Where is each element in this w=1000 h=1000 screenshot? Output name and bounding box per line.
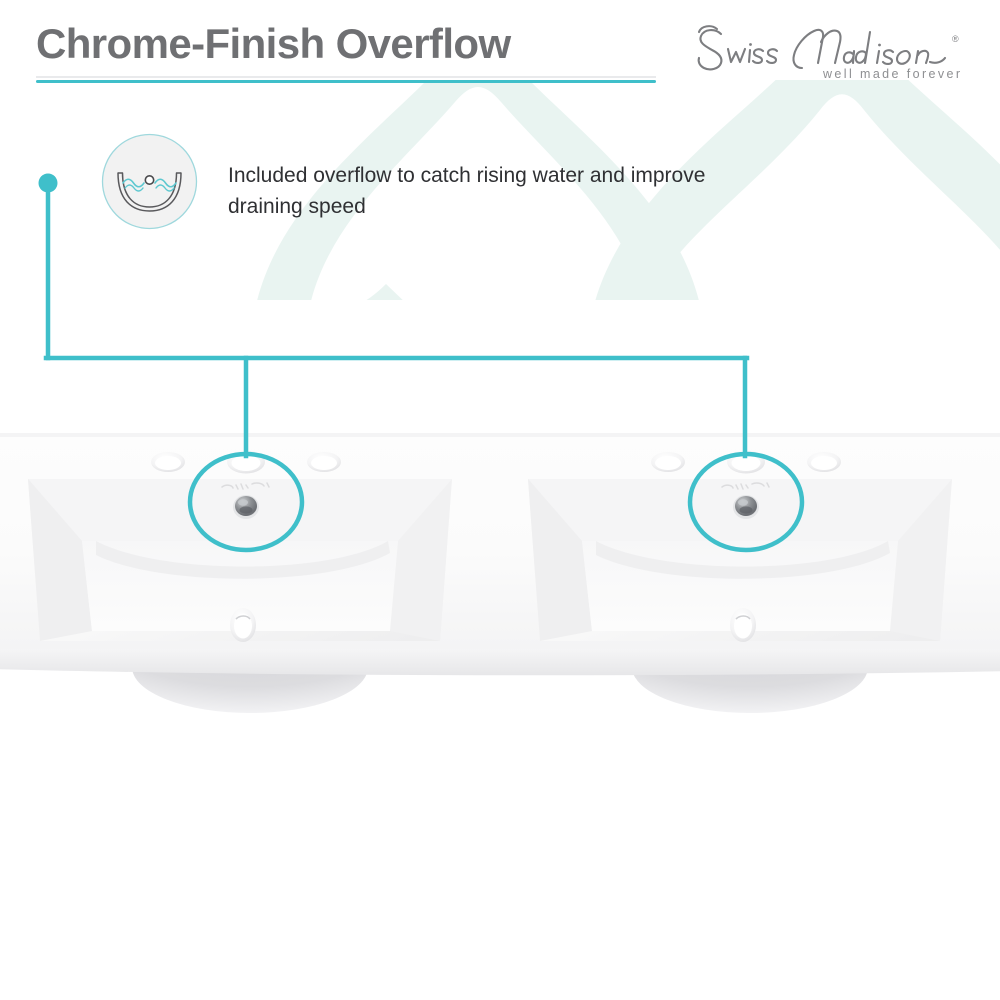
brand-tagline: well made forever (822, 67, 962, 81)
title-rule-soft (36, 76, 656, 78)
callout-marker-dot (39, 174, 58, 193)
basin-overflow-icon (101, 133, 198, 230)
registered-mark: ® (952, 34, 959, 44)
infographic-stage: Chrome-Finish Overflow (0, 0, 1000, 1000)
callout-description: Included overflow to catch rising water … (228, 160, 728, 222)
header: Chrome-Finish Overflow (0, 0, 1000, 100)
counter-front-edge (0, 647, 1000, 675)
brand-logo: ® well made forever (690, 22, 980, 84)
title-accent-rule (36, 80, 656, 83)
page-title: Chrome-Finish Overflow (36, 20, 511, 68)
